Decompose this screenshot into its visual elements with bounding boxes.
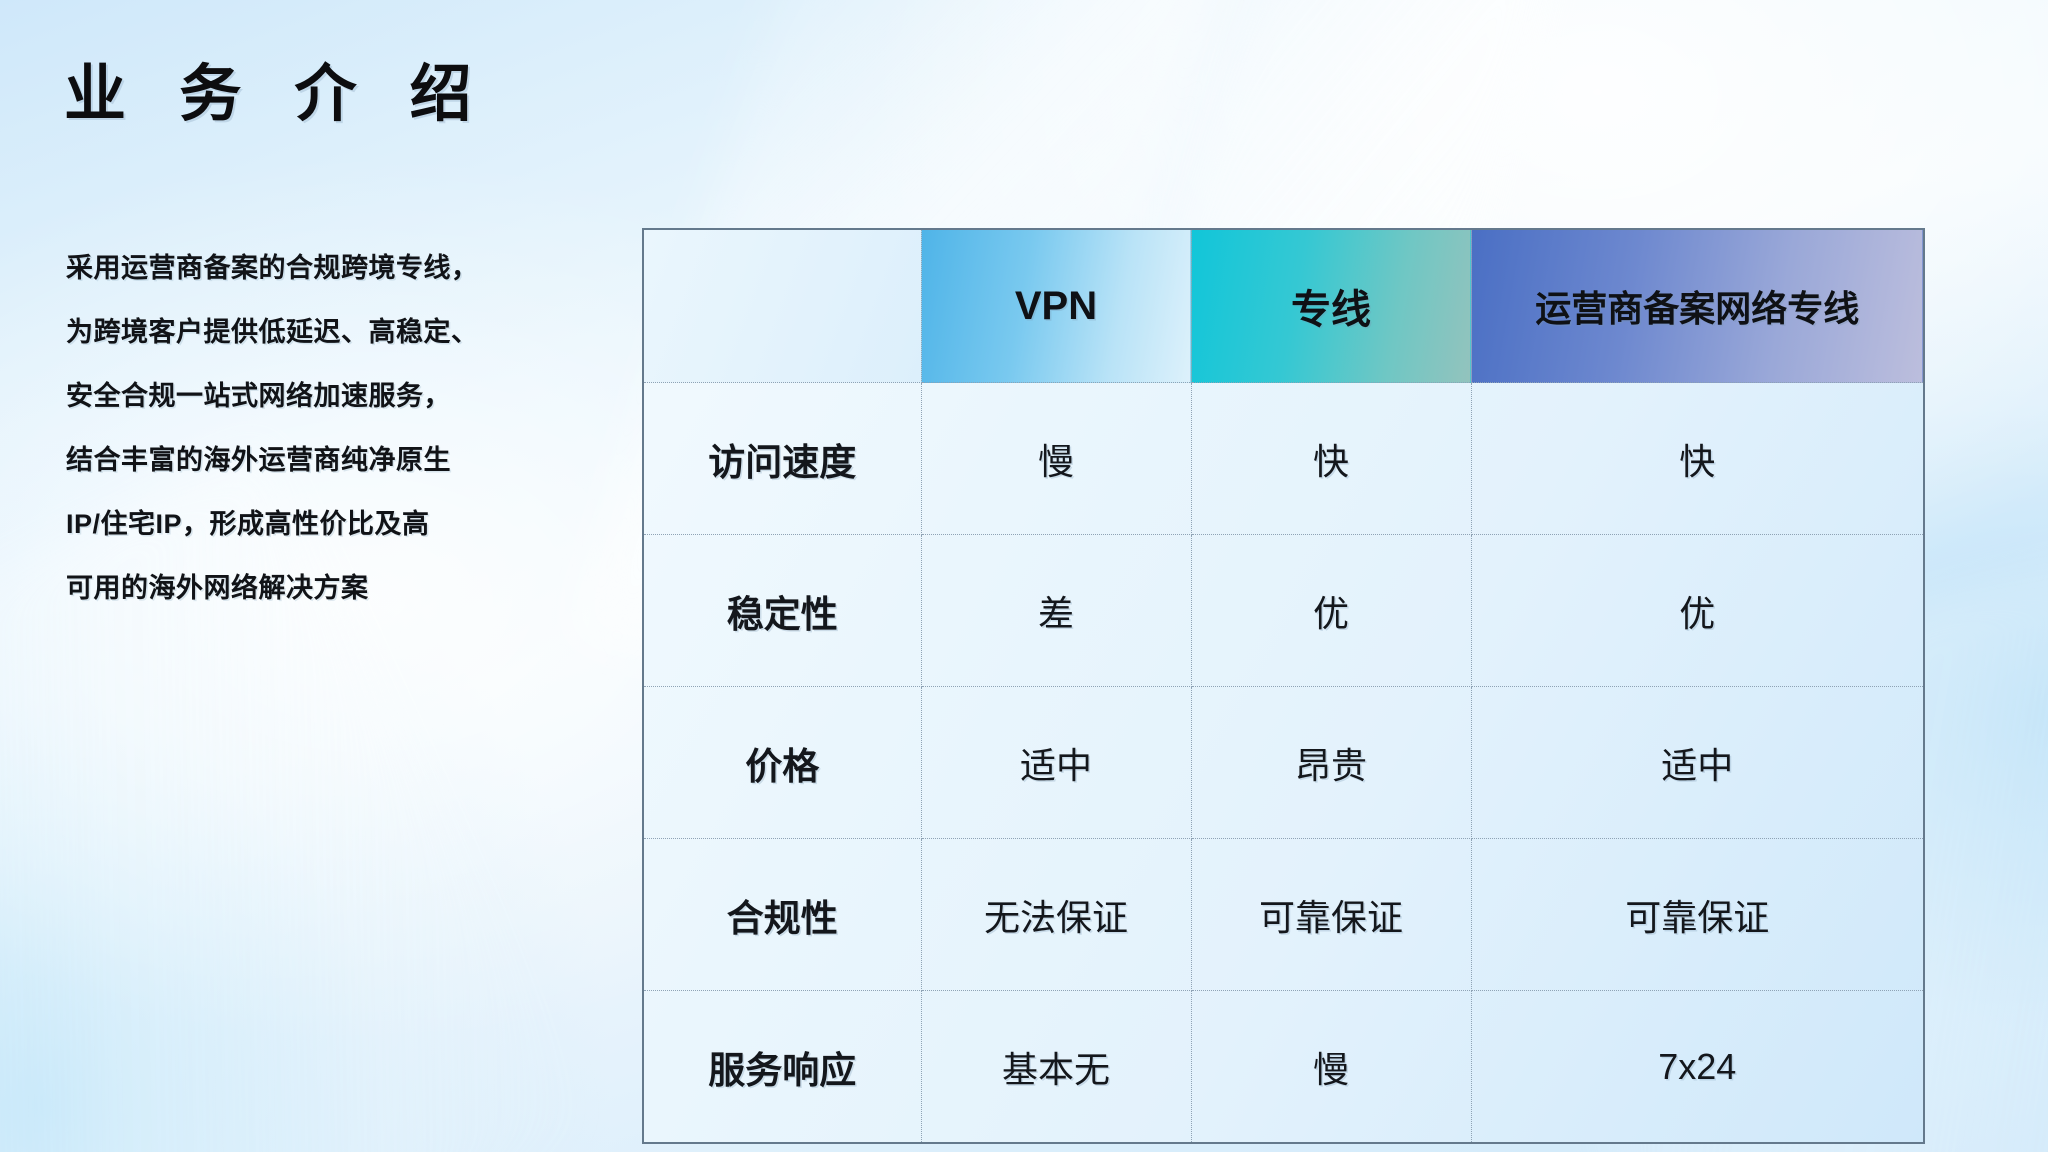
table-cell: 优 [1471, 535, 1923, 687]
row-label: 合规性 [644, 839, 921, 991]
table-cell: 适中 [1471, 687, 1923, 839]
table-row: 访问速度 慢 快 快 [644, 383, 1923, 535]
table-header-row: VPN 专线 运营商备案网络专线 [644, 230, 1923, 383]
column-header-blank [644, 230, 921, 383]
table-cell: 快 [1191, 383, 1471, 535]
intro-line: 为跨境客户提供低延迟、高稳定、 [66, 300, 626, 364]
table-cell: 昂贵 [1191, 687, 1471, 839]
table-cell: 可靠保证 [1471, 839, 1923, 991]
column-header-carrier-filed-line: 运营商备案网络专线 [1471, 230, 1923, 383]
table-header: VPN 专线 运营商备案网络专线 [644, 230, 1923, 383]
table-row: 稳定性 差 优 优 [644, 535, 1923, 687]
table-cell: 可靠保证 [1191, 839, 1471, 991]
table-cell: 7x24 [1471, 991, 1923, 1143]
table-body: 访问速度 慢 快 快 稳定性 差 优 优 价格 适中 昂贵 适中 [644, 383, 1923, 1143]
table-cell: 优 [1191, 535, 1471, 687]
table-cell: 慢 [921, 383, 1191, 535]
slide-canvas: 业 务 介 绍 采用运营商备案的合规跨境专线， 为跨境客户提供低延迟、高稳定、 … [0, 0, 2048, 1152]
row-label: 访问速度 [644, 383, 921, 535]
table-row: 价格 适中 昂贵 适中 [644, 687, 1923, 839]
row-label: 价格 [644, 687, 921, 839]
page-title: 业 务 介 绍 [64, 60, 490, 129]
intro-line: 采用运营商备案的合规跨境专线， [66, 236, 626, 300]
table-cell: 适中 [921, 687, 1191, 839]
comparison-table-container: VPN 专线 运营商备案网络专线 访问速度 慢 快 快 稳定性 差 优 优 [642, 228, 1925, 1144]
table-cell: 基本无 [921, 991, 1191, 1143]
table-row: 合规性 无法保证 可靠保证 可靠保证 [644, 839, 1923, 991]
table-cell: 差 [921, 535, 1191, 687]
row-label: 服务响应 [644, 991, 921, 1143]
column-header-vpn: VPN [921, 230, 1191, 383]
intro-line: IP/住宅IP，形成高性价比及高 [66, 492, 626, 556]
table-cell: 慢 [1191, 991, 1471, 1143]
column-header-leased-line: 专线 [1191, 230, 1471, 383]
intro-line: 可用的海外网络解决方案 [66, 556, 626, 620]
row-label: 稳定性 [644, 535, 921, 687]
intro-paragraph: 采用运营商备案的合规跨境专线， 为跨境客户提供低延迟、高稳定、 安全合规一站式网… [66, 236, 626, 620]
table-row: 服务响应 基本无 慢 7x24 [644, 991, 1923, 1143]
intro-line: 结合丰富的海外运营商纯净原生 [66, 428, 626, 492]
table-cell: 无法保证 [921, 839, 1191, 991]
intro-line: 安全合规一站式网络加速服务， [66, 364, 626, 428]
table-cell: 快 [1471, 383, 1923, 535]
comparison-table: VPN 专线 运营商备案网络专线 访问速度 慢 快 快 稳定性 差 优 优 [644, 230, 1923, 1142]
